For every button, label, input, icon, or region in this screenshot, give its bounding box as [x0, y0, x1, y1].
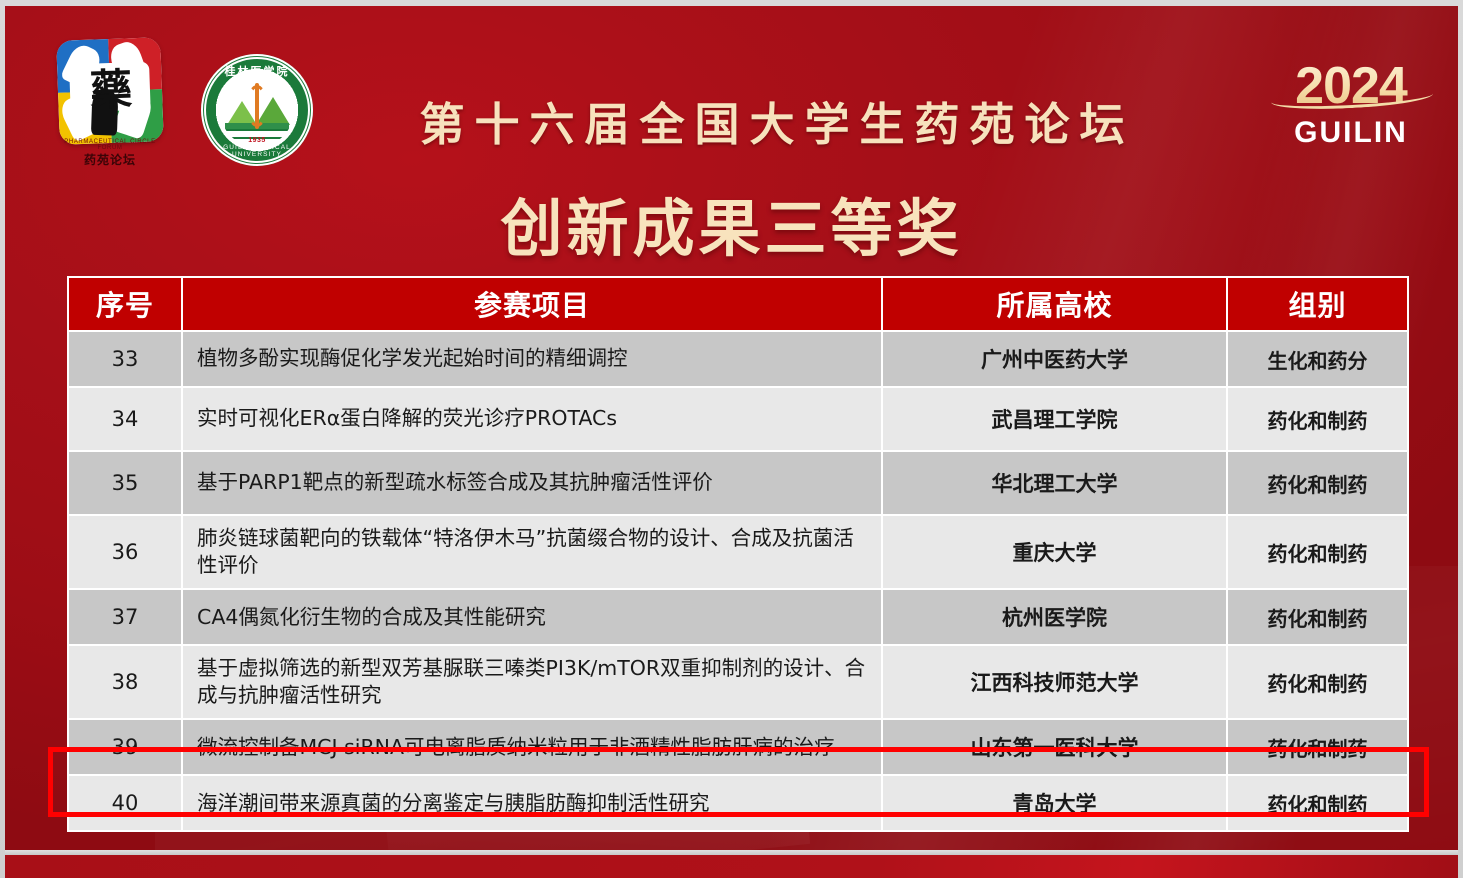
table-row: 39 微流控制备MCJ siRNA可电离脂质纳米粒用于非酒精性脂肪肝病的治疗 山…: [68, 719, 1408, 775]
event-year-city-mark: 2024 GUILIN: [1267, 58, 1435, 156]
cell-group: 生化和药分: [1227, 331, 1408, 387]
award-heading: 创新成果三等奖: [5, 178, 1458, 268]
cell-group: 药化和制药: [1227, 775, 1408, 831]
table-row: 36 肺炎链球菌靶向的铁载体“特洛伊木马”抗菌缀合物的设计、合成及抗菌活性评价 …: [68, 515, 1408, 589]
table-row: 38 基于虚拟筛选的新型双芳基脲联三嗪类PI3K/mTOR双重抑制剂的设计、合成…: [68, 645, 1408, 719]
table-row-highlighted: 40 海洋潮间带来源真菌的分离鉴定与胰脂肪酶抑制活性研究 青岛大学 药化和制药: [68, 775, 1408, 831]
table-row: 34 实时可视化ERα蛋白降解的荧光诊疗PROTACs 武昌理工学院 药化和制药: [68, 387, 1408, 451]
table-header-row: 序号 参赛项目 所属高校 组别: [68, 277, 1408, 331]
presentation-slide: 藥 PHARMACEUTICAL CIRCLE FORUM 药苑论坛 桂林医学院…: [0, 0, 1463, 878]
cell-university: 华北理工大学: [882, 451, 1227, 515]
cell-project: 海洋潮间带来源真菌的分离鉴定与胰脂肪酶抑制活性研究: [182, 775, 882, 831]
event-city: GUILIN: [1267, 116, 1435, 150]
column-header-no: 序号: [68, 277, 182, 331]
awards-table-container: 序号 参赛项目 所属高校 组别 33 植物多酚实现酶促化学发光起始时间的精细调控…: [67, 276, 1407, 832]
awards-table-body: 33 植物多酚实现酶促化学发光起始时间的精细调控 广州中医药大学 生化和药分 3…: [68, 331, 1408, 831]
cell-group: 药化和制药: [1227, 451, 1408, 515]
cell-group: 药化和制药: [1227, 589, 1408, 645]
university-emblem: 桂林医学院 1935 GUILIN MEDICAL UNIVERSITY: [201, 54, 313, 166]
cell-group: 药化和制药: [1227, 719, 1408, 775]
cell-project: 肺炎链球菌靶向的铁载体“特洛伊木马”抗菌缀合物的设计、合成及抗菌活性评价: [182, 515, 882, 589]
forum-logo-tile: 藥: [56, 37, 164, 145]
forum-logo: 藥 PHARMACEUTICAL CIRCLE FORUM 药苑论坛: [58, 39, 162, 143]
cell-no: 38: [68, 645, 182, 719]
awards-table: 序号 参赛项目 所属高校 组别 33 植物多酚实现酶促化学发光起始时间的精细调控…: [67, 276, 1409, 832]
forum-title: 第十六届全国大学生药苑论坛: [357, 88, 1197, 153]
forum-logo-subtitle-en: PHARMACEUTICAL CIRCLE FORUM: [58, 139, 162, 151]
cell-university: 江西科技师范大学: [882, 645, 1227, 719]
snake-icon: [248, 85, 266, 127]
forum-logo-subtitle-cn: 药苑论坛: [58, 151, 162, 168]
slide-content-area: 藥 PHARMACEUTICAL CIRCLE FORUM 药苑论坛 桂林医学院…: [5, 6, 1458, 855]
cell-university: 山东第一医科大学: [882, 719, 1227, 775]
cell-project: 植物多酚实现酶促化学发光起始时间的精细调控: [182, 331, 882, 387]
cell-project: 基于虚拟筛选的新型双芳基脲联三嗪类PI3K/mTOR双重抑制剂的设计、合成与抗肿…: [182, 645, 882, 719]
cell-university: 广州中医药大学: [882, 331, 1227, 387]
emblem-founded-year: 1935: [220, 137, 294, 144]
cell-project: 微流控制备MCJ siRNA可电离脂质纳米粒用于非酒精性脂肪肝病的治疗: [182, 719, 882, 775]
cell-university: 青岛大学: [882, 775, 1227, 831]
cell-project: 基于PARP1靶点的新型疏水标签合成及其抗肿瘤活性评价: [182, 451, 882, 515]
emblem-inner-disc: 1935: [220, 73, 294, 147]
cell-no: 33: [68, 331, 182, 387]
column-header-project: 参赛项目: [182, 277, 882, 331]
cell-group: 药化和制药: [1227, 645, 1408, 719]
cell-university: 杭州医学院: [882, 589, 1227, 645]
cell-group: 药化和制药: [1227, 387, 1408, 451]
cell-university: 重庆大学: [882, 515, 1227, 589]
cell-project: 实时可视化ERα蛋白降解的荧光诊疗PROTACs: [182, 387, 882, 451]
cell-no: 37: [68, 589, 182, 645]
bottom-strip: [5, 855, 1458, 878]
cell-no: 39: [68, 719, 182, 775]
cell-no: 36: [68, 515, 182, 589]
table-row: 35 基于PARP1靶点的新型疏水标签合成及其抗肿瘤活性评价 华北理工大学 药化…: [68, 451, 1408, 515]
cell-no: 34: [68, 387, 182, 451]
table-row: 37 CA4偶氮化衍生物的合成及其性能研究 杭州医学院 药化和制药: [68, 589, 1408, 645]
cell-no: 35: [68, 451, 182, 515]
column-header-university: 所属高校: [882, 277, 1227, 331]
cell-project: CA4偶氮化衍生物的合成及其性能研究: [182, 589, 882, 645]
emblem-name-en: GUILIN MEDICAL UNIVERSITY: [201, 144, 313, 158]
forum-logo-character: 藥: [69, 58, 151, 115]
table-row: 33 植物多酚实现酶促化学发光起始时间的精细调控 广州中医药大学 生化和药分: [68, 331, 1408, 387]
column-header-group: 组别: [1227, 277, 1408, 331]
cell-no: 40: [68, 775, 182, 831]
cell-university: 武昌理工学院: [882, 387, 1227, 451]
cell-group: 药化和制药: [1227, 515, 1408, 589]
